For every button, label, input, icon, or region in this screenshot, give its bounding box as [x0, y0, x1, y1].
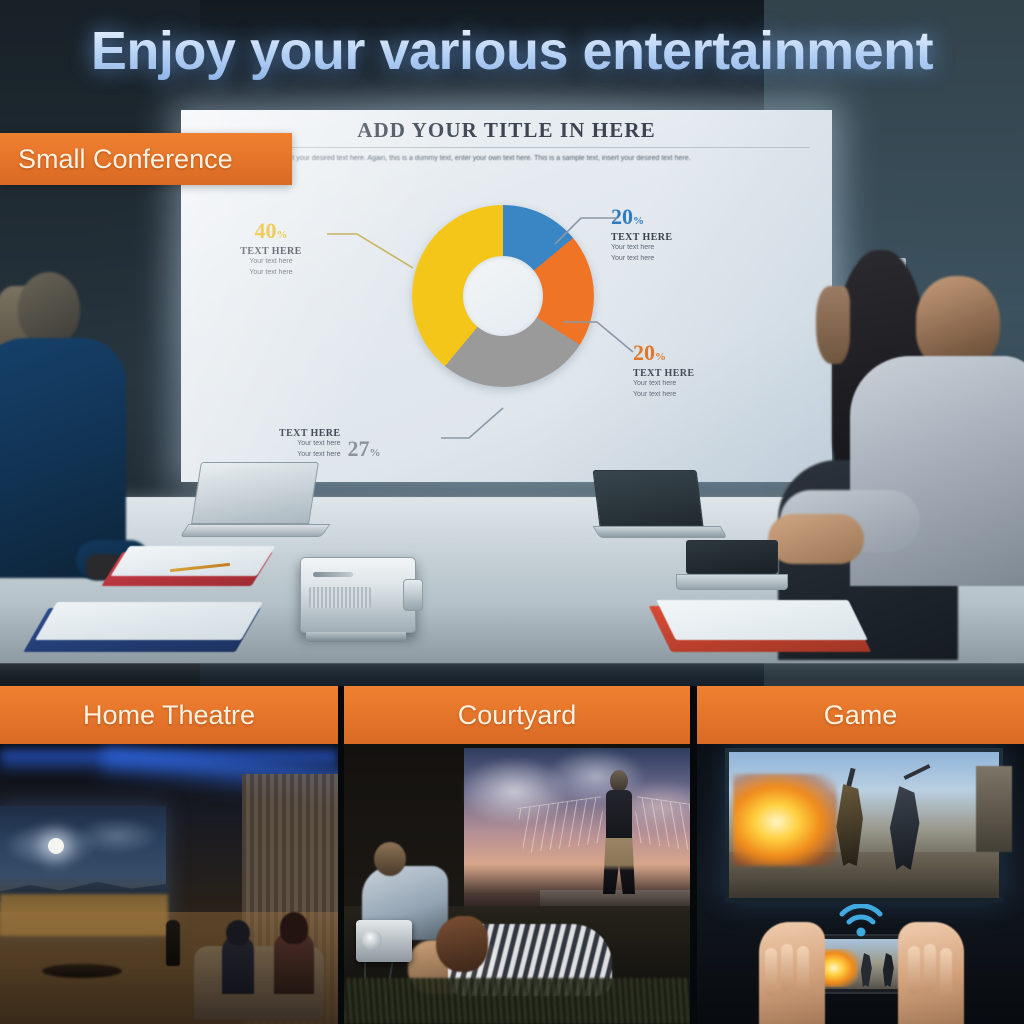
panel-label-text: Home Theatre	[83, 700, 255, 731]
chart-percent-symbol: %	[633, 215, 644, 227]
chart-callout-sub2: Your text here	[611, 254, 741, 265]
laptop-left	[196, 462, 326, 537]
projector-device-outdoor	[356, 920, 412, 962]
chart-callout-heading: TEXT HERE	[213, 246, 329, 257]
product-feature-collage: Enjoy your various entertainment Enjoy y…	[0, 0, 1024, 1024]
scene-label-text: Small Conference	[18, 144, 233, 175]
chart-callout-sub2: Your text here	[279, 450, 341, 461]
panel-label-text: Game	[824, 700, 898, 731]
chart-callout-sub1: Your text here	[279, 439, 341, 450]
panel-art-courtyard	[344, 744, 690, 1024]
donut-center-hole	[463, 256, 543, 336]
leader-line-orange	[563, 318, 639, 358]
panel-game: Game	[697, 686, 1024, 1024]
chart-callout-sub1: Your text here	[213, 257, 329, 268]
notepad-red-sheet	[111, 546, 276, 576]
chart-callout-sub2: Your text here	[633, 390, 763, 401]
scene-panel-row: Home Theatre	[0, 686, 1024, 1024]
panel-home-theatre: Home Theatre	[0, 686, 338, 1024]
chart-callout-heading: TEXT HERE	[279, 428, 341, 439]
laptop-right	[686, 540, 788, 590]
chart-callout-blue: 20% TEXT HERE Your text here Your text h…	[611, 206, 741, 264]
floor-vase	[166, 920, 180, 966]
left-hand	[759, 922, 825, 1024]
slide-divider	[209, 147, 810, 148]
chart-callout-sub1: Your text here	[633, 379, 763, 390]
chart-callout-sub2: Your text here	[213, 268, 329, 279]
chart-callout-yellow: 40% TEXT HERE Your text here Your text h…	[213, 220, 329, 278]
chart-callout-sub1: Your text here	[611, 243, 741, 254]
explosion-effect	[733, 774, 837, 866]
projector-lens-icon	[362, 930, 382, 950]
chart-percent-value: 27	[348, 436, 370, 461]
chart-callout-heading: TEXT HERE	[611, 232, 741, 243]
chart-percent-symbol: %	[277, 229, 288, 241]
winged-figure	[600, 768, 636, 894]
laptop-center	[596, 470, 724, 538]
slide-body-text: This is a sample text. Insert your desir…	[209, 153, 809, 165]
panel-label-text: Courtyard	[458, 700, 577, 731]
projector-device	[300, 557, 416, 633]
panel-art-game	[697, 744, 1024, 1024]
leader-line-yellow	[327, 228, 419, 272]
notepad-blue-sheet	[35, 602, 263, 640]
chart-callout-gray: TEXT HERE Your text here Your text here …	[279, 424, 449, 460]
coffee-table	[42, 964, 122, 978]
chart-callout-orange: 20% TEXT HERE Your text here Your text h…	[633, 342, 763, 400]
chart-percent-symbol: %	[370, 447, 381, 459]
wifi-cast-icon	[838, 904, 884, 943]
chart-percent-symbol: %	[655, 351, 666, 363]
page-title: Enjoy your various entertainment	[0, 20, 1024, 82]
right-hand	[898, 922, 964, 1024]
leader-line-blue	[555, 214, 625, 248]
chart-callout-heading: TEXT HERE	[633, 368, 763, 379]
small-conference-scene: Enjoy your various entertainment Enjoy y…	[0, 0, 1024, 686]
panel-art-home-theatre	[0, 744, 338, 1024]
panel-courtyard: Courtyard	[344, 686, 690, 1024]
panel-label-game: Game	[697, 686, 1024, 744]
scene-label-small-conference: Small Conference	[0, 133, 292, 185]
notepad-orange-sheet	[656, 600, 868, 640]
chart-percent-value: 40	[255, 218, 277, 243]
leader-line-gray	[441, 406, 513, 442]
panel-label-home-theatre: Home Theatre	[0, 686, 338, 744]
projector-lens-icon	[403, 579, 423, 611]
panel-label-courtyard: Courtyard	[344, 686, 690, 744]
moon-icon	[48, 838, 64, 854]
